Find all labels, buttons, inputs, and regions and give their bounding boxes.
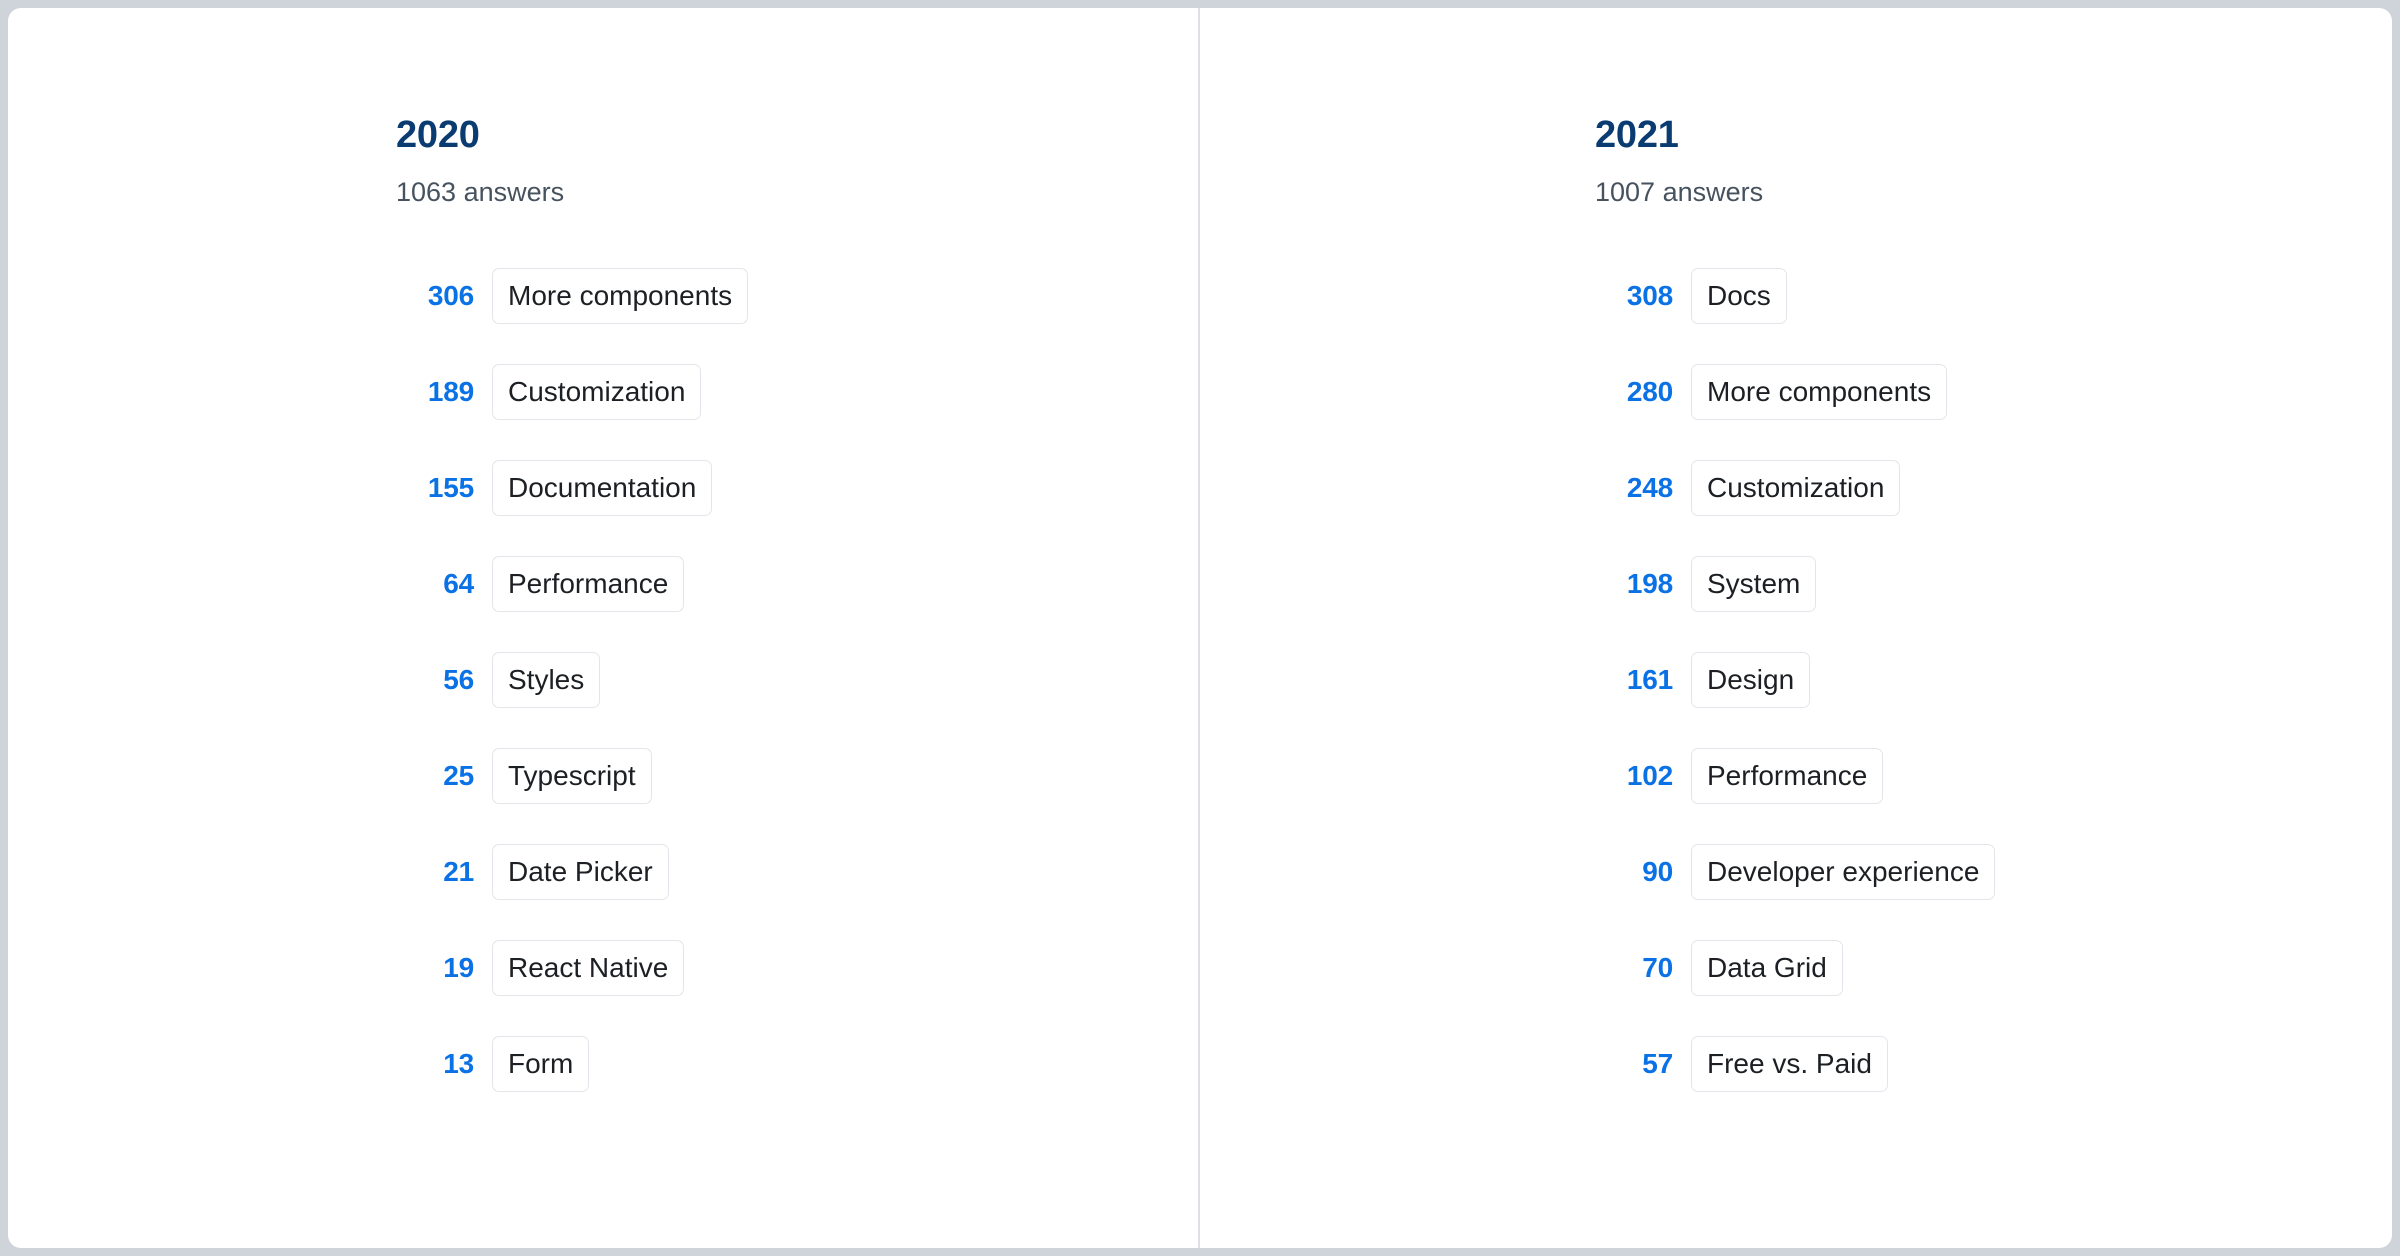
item-label-chip[interactable]: Data Grid bbox=[1691, 940, 1843, 996]
list-item[interactable]: 21 Date Picker bbox=[396, 824, 1198, 920]
list-item[interactable]: 102 Performance bbox=[1595, 728, 2392, 824]
answers-count-label: 1063 answers bbox=[396, 154, 1198, 206]
item-count: 248 bbox=[1595, 474, 1673, 502]
item-label-chip[interactable]: More components bbox=[1691, 364, 1947, 420]
item-count: 57 bbox=[1595, 1050, 1673, 1078]
ranked-list-2021: 308 Docs 280 More components 248 Customi… bbox=[1595, 206, 2392, 1112]
item-label-chip[interactable]: Free vs. Paid bbox=[1691, 1036, 1888, 1092]
item-label-chip[interactable]: Design bbox=[1691, 652, 1810, 708]
list-item[interactable]: 56 Styles bbox=[396, 632, 1198, 728]
item-label-chip[interactable]: Performance bbox=[492, 556, 684, 612]
item-count: 70 bbox=[1595, 954, 1673, 982]
item-count: 308 bbox=[1595, 282, 1673, 310]
item-label-chip[interactable]: Styles bbox=[492, 652, 600, 708]
item-count: 90 bbox=[1595, 858, 1673, 886]
item-count: 64 bbox=[396, 570, 474, 598]
item-label-chip[interactable]: Documentation bbox=[492, 460, 712, 516]
item-label-chip[interactable]: Form bbox=[492, 1036, 589, 1092]
item-label-chip[interactable]: System bbox=[1691, 556, 1816, 612]
list-item[interactable]: 306 More components bbox=[396, 248, 1198, 344]
item-count: 19 bbox=[396, 954, 474, 982]
item-label-chip[interactable]: Docs bbox=[1691, 268, 1787, 324]
list-item[interactable]: 57 Free vs. Paid bbox=[1595, 1016, 2392, 1112]
item-count: 102 bbox=[1595, 762, 1673, 790]
item-count: 13 bbox=[396, 1050, 474, 1078]
list-item[interactable]: 161 Design bbox=[1595, 632, 2392, 728]
item-label-chip[interactable]: Performance bbox=[1691, 748, 1883, 804]
list-item[interactable]: 25 Typescript bbox=[396, 728, 1198, 824]
ranked-list-2020: 306 More components 189 Customization 15… bbox=[396, 206, 1198, 1112]
list-item[interactable]: 248 Customization bbox=[1595, 440, 2392, 536]
item-count: 155 bbox=[396, 474, 474, 502]
answers-count-label: 1007 answers bbox=[1595, 154, 2392, 206]
item-count: 189 bbox=[396, 378, 474, 406]
list-item[interactable]: 308 Docs bbox=[1595, 248, 2392, 344]
list-item[interactable]: 280 More components bbox=[1595, 344, 2392, 440]
list-item[interactable]: 64 Performance bbox=[396, 536, 1198, 632]
item-label-chip[interactable]: Customization bbox=[1691, 460, 1900, 516]
item-label-chip[interactable]: More components bbox=[492, 268, 748, 324]
item-label-chip[interactable]: Developer experience bbox=[1691, 844, 1995, 900]
item-label-chip[interactable]: Customization bbox=[492, 364, 701, 420]
list-item[interactable]: 13 Form bbox=[396, 1016, 1198, 1112]
item-count: 25 bbox=[396, 762, 474, 790]
year-panel-2020: 2020 1063 answers 306 More components 18… bbox=[8, 8, 1198, 1248]
list-item[interactable]: 90 Developer experience bbox=[1595, 824, 2392, 920]
list-item[interactable]: 70 Data Grid bbox=[1595, 920, 2392, 1016]
item-count: 306 bbox=[396, 282, 474, 310]
item-label-chip[interactable]: Typescript bbox=[492, 748, 652, 804]
list-item[interactable]: 155 Documentation bbox=[396, 440, 1198, 536]
list-item[interactable]: 189 Customization bbox=[396, 344, 1198, 440]
item-label-chip[interactable]: React Native bbox=[492, 940, 684, 996]
item-count: 198 bbox=[1595, 570, 1673, 598]
year-heading: 2021 bbox=[1595, 116, 2392, 154]
item-label-chip[interactable]: Date Picker bbox=[492, 844, 669, 900]
list-item[interactable]: 19 React Native bbox=[396, 920, 1198, 1016]
year-panel-2021: 2021 1007 answers 308 Docs 280 More comp… bbox=[1200, 8, 2392, 1248]
list-item[interactable]: 198 System bbox=[1595, 536, 2392, 632]
item-count: 56 bbox=[396, 666, 474, 694]
item-count: 21 bbox=[396, 858, 474, 886]
results-card: 2020 1063 answers 306 More components 18… bbox=[8, 8, 2392, 1248]
item-count: 280 bbox=[1595, 378, 1673, 406]
year-heading: 2020 bbox=[396, 116, 1198, 154]
item-count: 161 bbox=[1595, 666, 1673, 694]
